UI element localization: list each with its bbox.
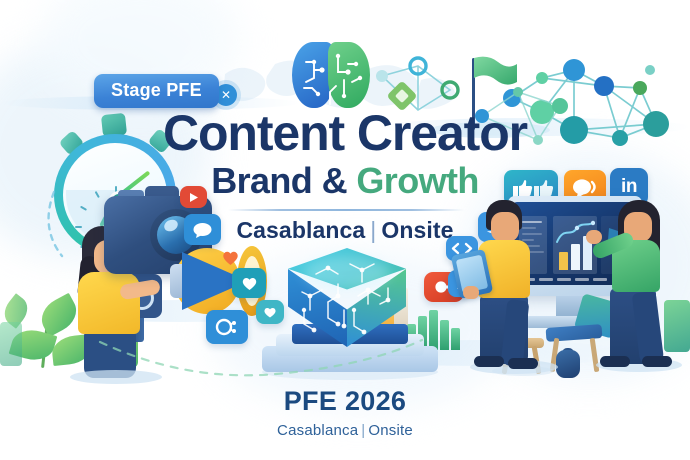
footer-title: PFE 2026 (0, 388, 690, 415)
stage-pfe-badge[interactable]: Stage PFE (94, 74, 219, 108)
footer-mode: Onsite (368, 422, 413, 439)
backpack-icon (556, 350, 580, 378)
camera-bubble-icon[interactable] (206, 310, 248, 344)
page-title: Content Creator (0, 108, 690, 158)
location-mode: Onsite (381, 217, 453, 243)
page-subtitle: Brand & Growth (0, 163, 690, 199)
poster-canvas: ✕ (0, 0, 690, 460)
location-separator: | (365, 217, 381, 243)
heart-bubble-icon[interactable] (232, 268, 266, 298)
person-woman-shoe (642, 356, 672, 367)
location-line: Casablanca|Onsite (0, 219, 690, 242)
ai-brain-icon (292, 38, 370, 112)
person-man-hand (463, 286, 479, 299)
location-city: Casablanca (236, 217, 365, 243)
heart-bubble-icon[interactable] (256, 300, 284, 324)
ai-cube-icon (288, 248, 406, 352)
heart-icon (222, 250, 239, 266)
person-man-shoe (474, 356, 504, 367)
person-man-shoe (508, 358, 538, 369)
person-left-body (78, 272, 140, 334)
green-block (664, 300, 690, 352)
title-divider (228, 209, 464, 211)
green-block (0, 322, 22, 366)
bar-chart-bar (440, 320, 449, 350)
page-subtitle-growth: Growth (356, 160, 478, 201)
bar-chart-bar (451, 328, 460, 350)
footer-separator: | (358, 422, 368, 439)
footer-city: Casablanca (277, 422, 358, 439)
ground-shadow (70, 370, 162, 384)
footer-location: Casablanca|Onsite (0, 423, 690, 438)
person-woman-shoe (600, 356, 630, 367)
page-subtitle-brand: Brand & (211, 160, 347, 201)
